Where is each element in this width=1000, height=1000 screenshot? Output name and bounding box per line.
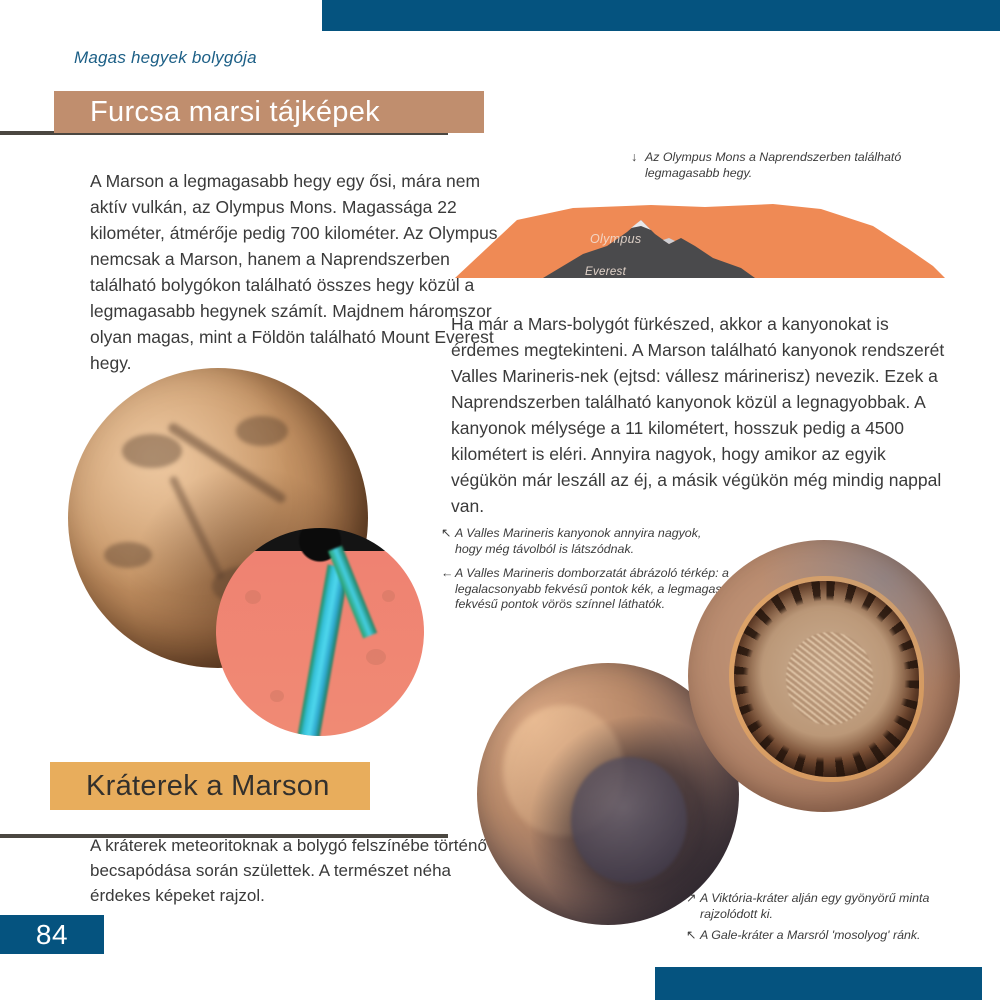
map-crater [245,590,261,604]
diagram-label-everest: Everest [585,266,626,278]
body-paragraph-right: Ha már a Mars-bolygót fürkészed, akkor a… [451,311,951,519]
map-crater [366,649,386,665]
caption-valles-marineris-photo: ↖A Valles Marineris kanyonok annyira nag… [455,526,725,557]
arrow-up-left-icon: ↖ [686,928,700,944]
body-paragraph-left: A Marson a legmagasabb hegy egy ősi, már… [90,168,510,376]
profile-svg [455,196,945,278]
mars-surface-feature [104,542,152,568]
arrow-down-icon: ↓ [631,150,645,166]
caption-valles-marineris-map: ←A Valles Marineris domborzatát ábrázoló… [455,566,745,613]
mars-surface-feature [236,416,288,446]
caption-valles-marineris-photo-text: A Valles Marineris kanyonok annyira nagy… [455,526,701,556]
victoria-crater-image [688,540,960,812]
caption-olympus-text: Az Olympus Mons a Naprendszerben találha… [645,150,901,180]
valles-marineris-map-image [216,528,424,736]
map-crater [382,590,395,602]
map-crater [270,690,284,702]
crater-floor [571,757,686,883]
caption-victoria-crater-text: A Viktória-kráter alján egy gyönyörű min… [700,891,929,921]
document-page: Magas hegyek bolygója 84 Furcsa marsi tá… [0,0,1000,1000]
section-heading-furcsa-marsi-tajkepek: Furcsa marsi tájképek [54,91,484,133]
caption-gale-crater: ↖A Gale-kráter a Marsról 'mosolyog' ránk… [700,928,970,944]
caption-victoria-crater: ↗A Viktória-kráter alján egy gyönyörű mi… [700,891,950,922]
page-number: 84 [0,915,104,954]
mars-surface-feature [122,434,182,468]
top-blue-banner [322,0,1000,31]
arrow-up-left-icon: ↖ [441,526,455,542]
bottom-blue-banner [655,967,982,1000]
arrow-up-right-icon: ↗ [686,891,700,907]
arrow-left-icon: ← [441,566,455,582]
caption-valles-marineris-map-text: A Valles Marineris domborzatát ábrázoló … [455,566,742,611]
body-paragraph-craters: A kráterek meteoritoknak a bolygó felszí… [90,833,490,908]
mars-surface-feature [168,475,225,581]
diagram-label-olympus: Olympus [590,232,641,246]
caption-olympus-mons: ↓Az Olympus Mons a Naprendszerben találh… [645,150,945,181]
section-heading-kraterek-a-marson: Kráterek a Marson [50,762,370,810]
crater-dune-pattern [786,632,873,724]
canyon-low-elevation-band [296,565,349,736]
caption-gale-crater-text: A Gale-kráter a Marsról 'mosolyog' ránk. [700,928,921,942]
olympus-everest-profile-diagram: Olympus Everest [455,196,945,278]
running-head: Magas hegyek bolygója [74,48,257,68]
